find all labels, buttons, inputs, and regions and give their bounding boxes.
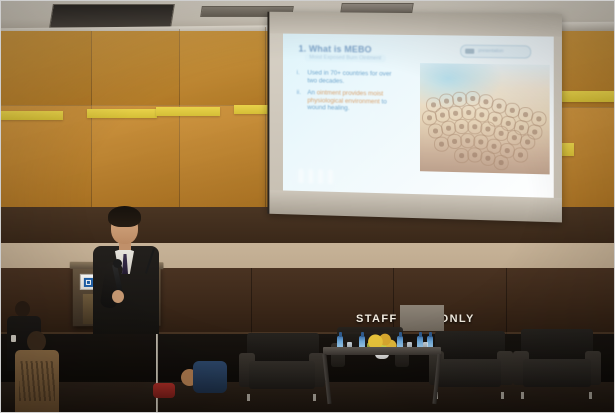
audience-member [15, 331, 59, 413]
stage-table [323, 347, 441, 405]
bullet-number: i. [297, 69, 303, 84]
slide-badge: presentation [460, 45, 531, 59]
bullet-text: Used in 70+ countries for over two decad… [307, 69, 403, 86]
table-leg [322, 354, 331, 404]
batik-pattern [19, 361, 55, 401]
wall-accent-stripe [1, 111, 63, 120]
conference-presentation-photo: 1. What is MEBO Moist Exposed Burn Ointm… [0, 0, 615, 413]
slide-subtitle: Moist Exposed Burn Ointment [304, 54, 386, 63]
list-item: ii. An ointment provides moist physiolog… [297, 89, 403, 114]
wall-accent-stripe [562, 91, 615, 102]
person-head [15, 301, 30, 317]
stage-armchair [239, 333, 325, 395]
red-bag [153, 383, 175, 398]
wall-accent-stripe [156, 107, 220, 116]
stage-armchair [513, 329, 601, 393]
wall-accent-stripe [234, 105, 268, 114]
ceiling-vent [49, 4, 175, 28]
slide-badge-label: presentation [478, 47, 503, 52]
presenter [89, 204, 165, 334]
table-top [323, 347, 441, 355]
presenter-hand [112, 290, 124, 303]
slide-tissue-illustration [420, 63, 550, 174]
slide-bullet-list: i. Used in 70+ countries for over two de… [297, 69, 403, 118]
chair-back [521, 329, 593, 361]
wall-panel [179, 27, 266, 106]
stage-armchair [429, 331, 513, 393]
list-item: i. Used in 70+ countries for over two de… [297, 69, 403, 86]
wall-panel [91, 29, 180, 106]
person-head [27, 331, 46, 352]
slide-footer-marks [299, 169, 333, 184]
person-body [193, 361, 227, 393]
chair-seat [437, 359, 501, 387]
bullet-text-highlight: ointment provides moist physiological en… [307, 90, 383, 106]
projection-screen: 1. What is MEBO Moist Exposed Burn Ointm… [267, 12, 562, 223]
chair-seat [249, 361, 315, 389]
wall-accent-stripe [87, 109, 157, 118]
wall-panel [0, 105, 92, 210]
slide-badge-icon [465, 49, 474, 54]
chair-back [435, 331, 505, 361]
slide-surface: 1. What is MEBO Moist Exposed Burn Ointm… [283, 34, 554, 198]
bullet-number: ii. [297, 89, 303, 112]
wall-panel [0, 31, 92, 106]
chair-seat [523, 359, 591, 387]
presenter-hair [108, 206, 141, 227]
wall-panel [179, 105, 266, 210]
staff-only-sign: STAFF ONLY [356, 313, 475, 325]
sign-word-staff: STAFF [356, 313, 398, 325]
sign-word-only: ONLY [440, 313, 475, 325]
microphone-head-icon [113, 259, 122, 268]
bullet-text-before: An [307, 89, 316, 96]
wall-panel [91, 105, 180, 210]
bullet-text: An ointment provides moist physiological… [307, 89, 403, 113]
table-leg [432, 354, 441, 404]
audience-member [179, 353, 225, 393]
